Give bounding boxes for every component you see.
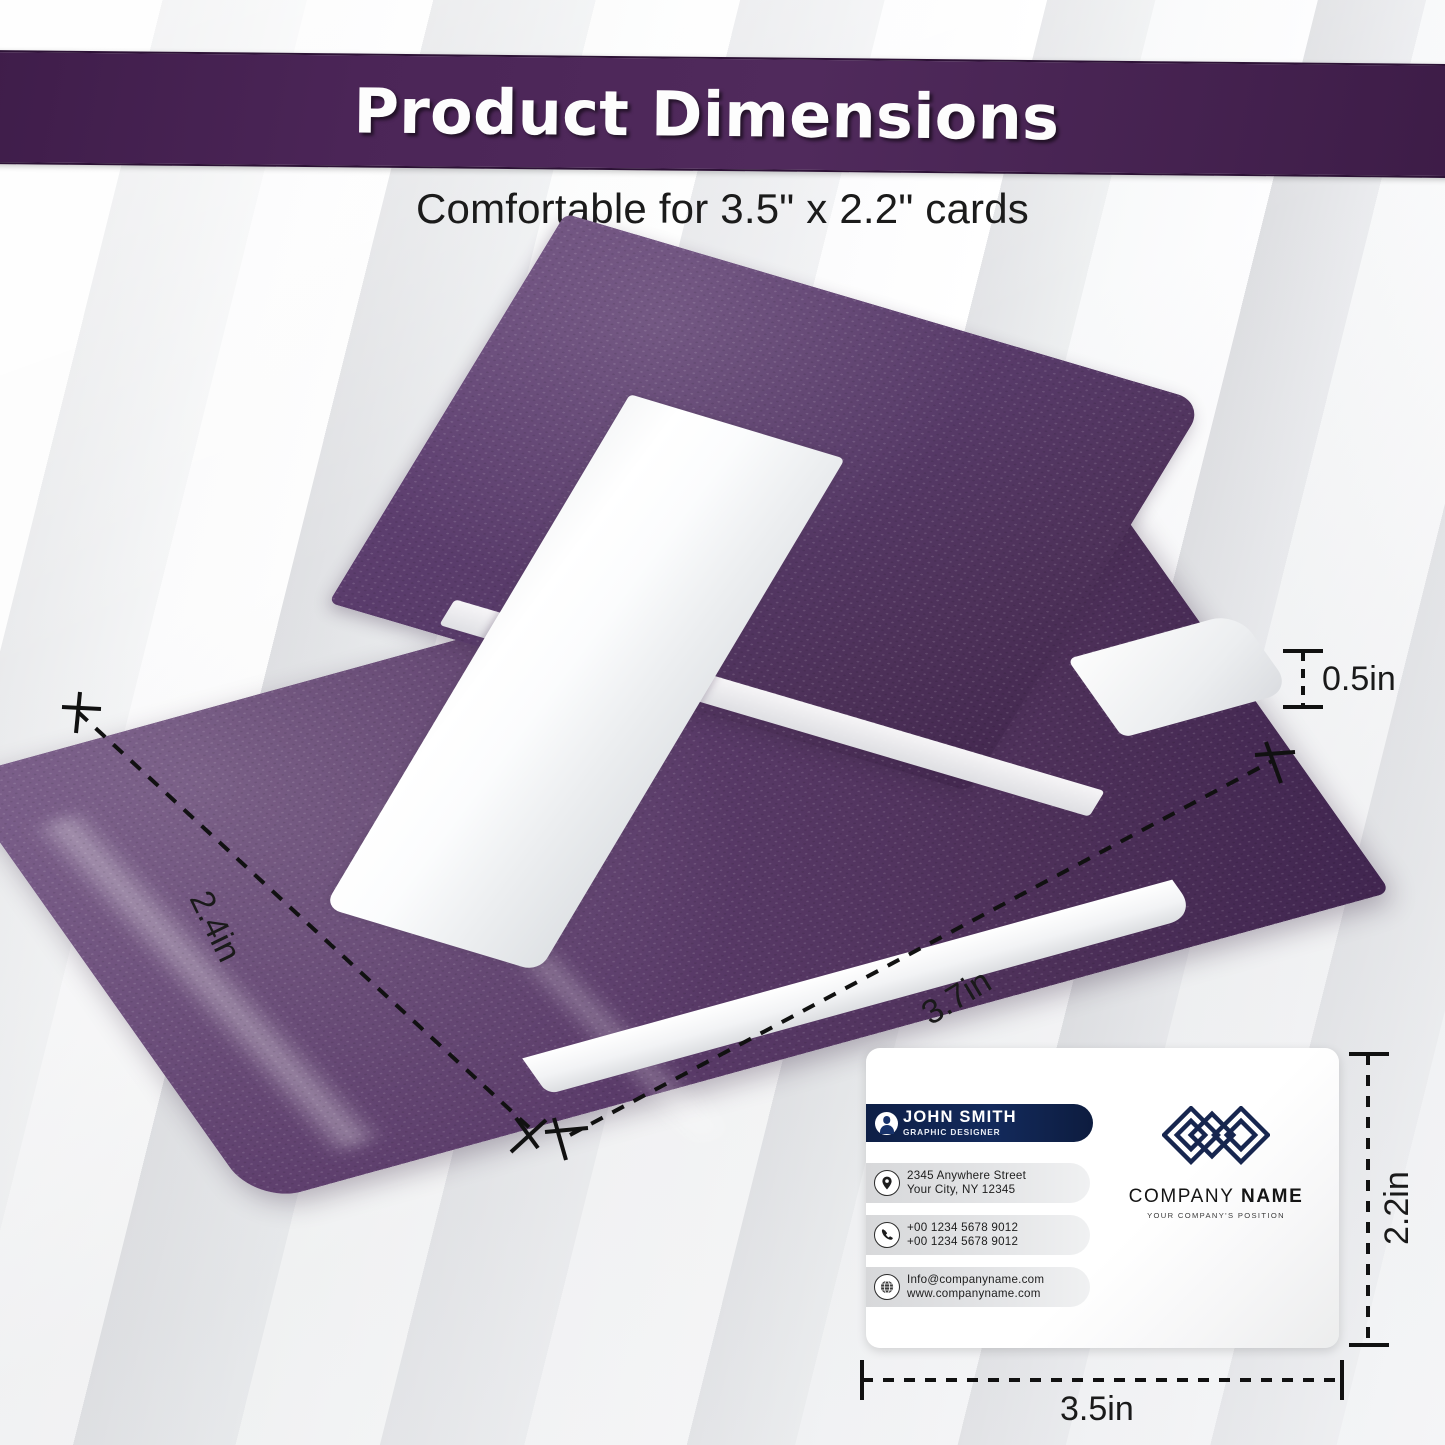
card-company-name: COMPANY NAME bbox=[1107, 1186, 1325, 1208]
page-title: Product Dimensions bbox=[0, 52, 1442, 176]
phone-icon bbox=[874, 1222, 900, 1248]
dimension-label-card-width: 3.5in bbox=[1060, 1390, 1134, 1429]
globe-icon bbox=[874, 1274, 900, 1300]
card-logo-block: COMPANY NAME YOUR COMPANY'S POSITION bbox=[1107, 1106, 1325, 1220]
card-web-row: Info@companyname.com www.companyname.com bbox=[866, 1267, 1090, 1307]
card-phone-text: +00 1234 5678 9012 +00 1234 5678 9012 bbox=[907, 1221, 1018, 1249]
card-phone-line2: +00 1234 5678 9012 bbox=[907, 1235, 1018, 1249]
business-card-sample: JOHN SMITH GRAPHIC DESIGNER 2345 Anywher… bbox=[866, 1048, 1339, 1348]
card-address-line1: 2345 Anywhere Street bbox=[907, 1169, 1026, 1183]
card-website: www.companyname.com bbox=[907, 1287, 1044, 1301]
card-company-name-light: COMPANY bbox=[1129, 1186, 1235, 1207]
dimension-label-thickness: 0.5in bbox=[1322, 660, 1396, 699]
infographic-canvas: Product Dimensions Comfortable for 3.5" … bbox=[0, 0, 1445, 1445]
location-pin-icon bbox=[874, 1170, 900, 1196]
card-holder-product bbox=[95, 265, 1310, 1145]
card-email: Info@companyname.com bbox=[907, 1273, 1044, 1287]
dimension-label-card-height: 2.2in bbox=[1378, 1171, 1417, 1245]
company-logo-icon bbox=[1162, 1106, 1270, 1182]
card-address-row: 2345 Anywhere Street Your City, NY 12345 bbox=[866, 1163, 1090, 1203]
card-person-name: JOHN SMITH bbox=[903, 1109, 1017, 1126]
card-person-role: GRAPHIC DESIGNER bbox=[903, 1127, 1017, 1137]
card-name-pill: JOHN SMITH GRAPHIC DESIGNER bbox=[866, 1104, 1093, 1142]
subtitle: Comfortable for 3.5" x 2.2" cards bbox=[0, 185, 1445, 233]
header-banner: Product Dimensions bbox=[0, 50, 1445, 178]
card-company-tagline: YOUR COMPANY'S POSITION bbox=[1107, 1211, 1325, 1220]
card-address-line2: Your City, NY 12345 bbox=[907, 1183, 1026, 1197]
card-phone-row: +00 1234 5678 9012 +00 1234 5678 9012 bbox=[866, 1215, 1090, 1255]
card-web-text: Info@companyname.com www.companyname.com bbox=[907, 1273, 1044, 1301]
card-address-text: 2345 Anywhere Street Your City, NY 12345 bbox=[907, 1169, 1026, 1197]
card-company-name-bold: NAME bbox=[1241, 1186, 1303, 1207]
person-icon bbox=[875, 1112, 898, 1135]
card-phone-line1: +00 1234 5678 9012 bbox=[907, 1221, 1018, 1235]
